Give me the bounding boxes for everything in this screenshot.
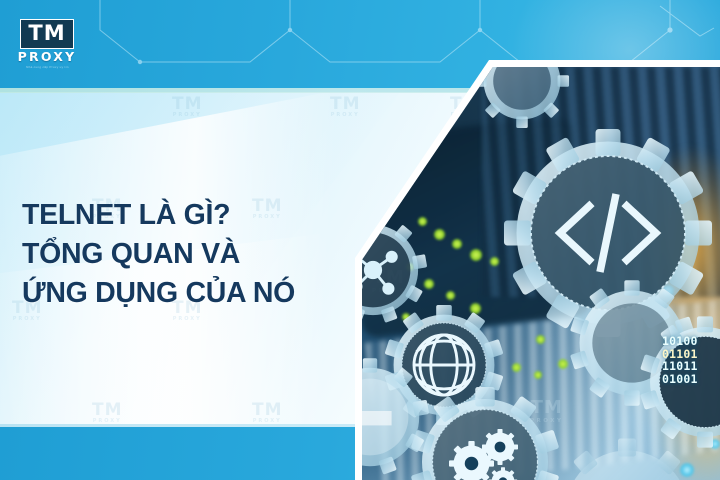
tmproxy-logo[interactable]: TM PROXY Nhà cung cấp Proxy uy tín	[16, 19, 78, 69]
lower-right-gear	[552, 437, 702, 480]
logo-wordmark: PROXY	[18, 51, 77, 64]
page-title: TELNET LÀ GÌ? TỔNG QUAN VÀ ỨNG DỤNG CỦA …	[22, 196, 352, 313]
binary-digits: 10100 01101 11011 01001	[662, 335, 698, 385]
gears-cluster-gear	[410, 387, 560, 480]
photo-content: TMPROXY TMPROXY	[362, 67, 720, 480]
network-nodes-gear	[362, 215, 428, 325]
logo-mark: TM	[20, 19, 73, 49]
background-watermark: TMPROXY	[172, 96, 203, 118]
background-watermark: TMPROXY	[252, 402, 283, 424]
lower-left-gear	[362, 357, 430, 477]
telnet-article-banner: TMPROXY TMPROXY TMPROXY TMPROXY TMPROXY …	[0, 0, 720, 480]
tech-photo-panel: TMPROXY TMPROXY	[355, 60, 720, 480]
title-line-1: TELNET LÀ GÌ?	[22, 196, 352, 235]
title-line-3: ỨNG DỤNG CỦA NÓ	[22, 274, 352, 313]
background-watermark: TMPROXY	[92, 402, 123, 424]
upper-small-gear	[474, 67, 570, 129]
title-line-2: TỔNG QUAN VÀ	[22, 235, 352, 274]
logo-tagline: Nhà cung cấp Proxy uy tín	[26, 65, 69, 69]
